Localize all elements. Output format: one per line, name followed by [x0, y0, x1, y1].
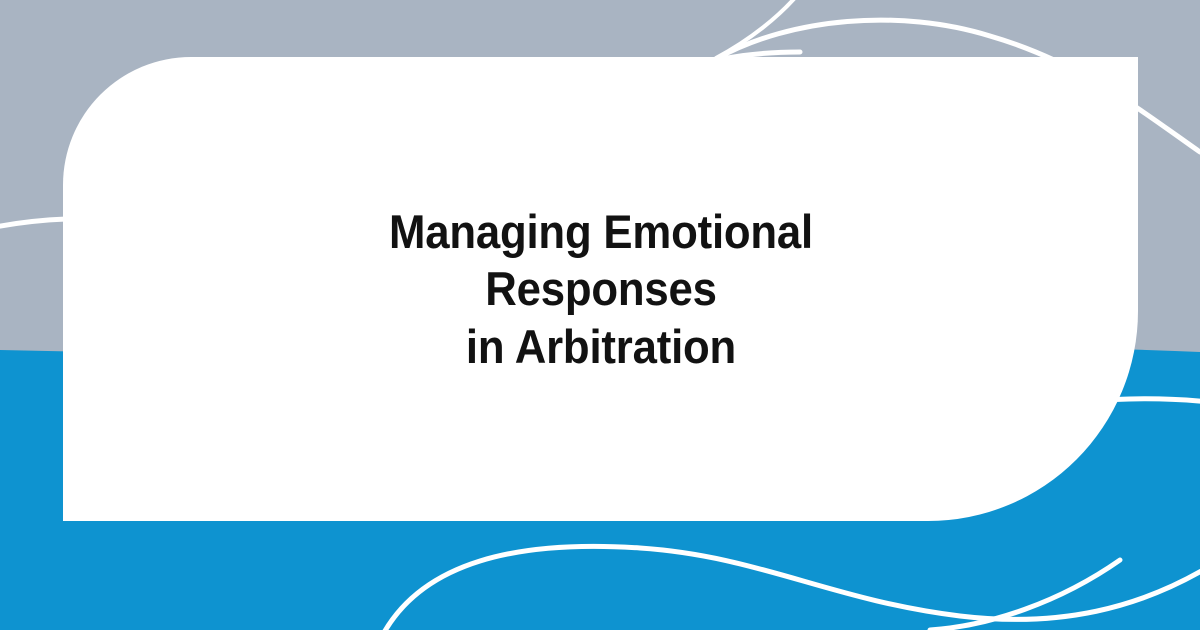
content-card: Managing Emotional Responses in Arbitrat…	[63, 57, 1138, 521]
page-title: Managing Emotional Responses in Arbitrat…	[247, 203, 954, 375]
content-card-body: Managing Emotional Responses in Arbitrat…	[63, 57, 1138, 521]
social-card-banner: Managing Emotional Responses in Arbitrat…	[0, 0, 1200, 630]
